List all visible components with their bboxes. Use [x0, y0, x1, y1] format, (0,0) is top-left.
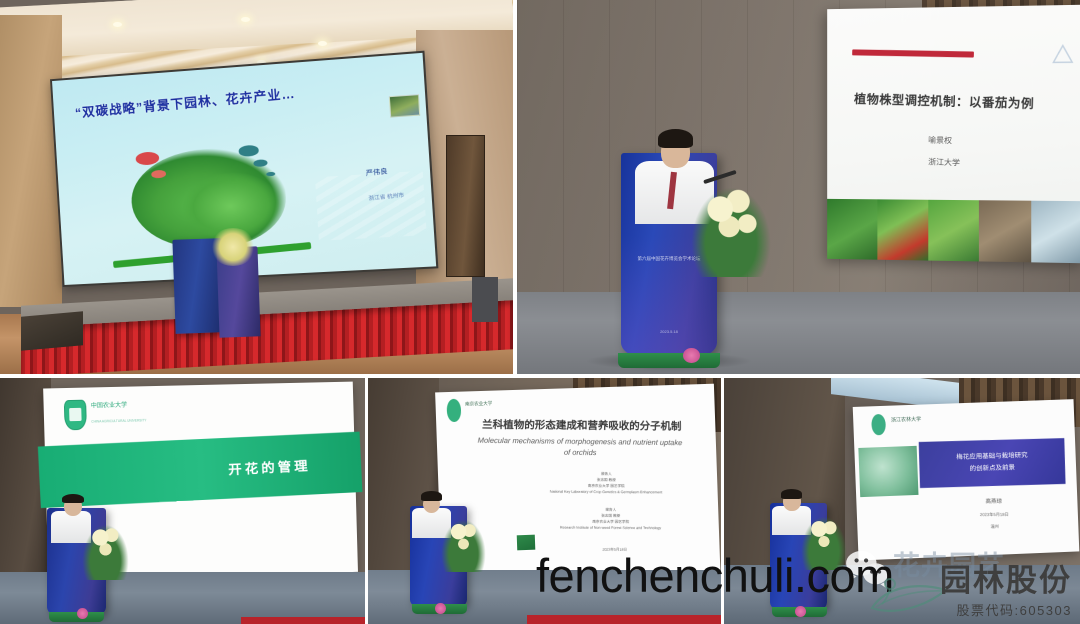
speaker-hair [658, 129, 693, 148]
photo-collage: “双碳战略”背景下园林、花卉产业… 严伟良 浙江省 杭州市 植物株型调 [0, 0, 1080, 624]
projection-screen[interactable]: 浙江农林大学 梅花应用基础与栽培研究 的创新点及前景 高燕琼 2023年5月18… [852, 399, 1078, 560]
site-domain-watermark: fenchenchuli.com [536, 548, 894, 603]
panel-stage-overview[interactable]: “双碳战略”背景下园林、花卉产业… 严伟良 浙江省 杭州市 [0, 0, 513, 374]
brand-stock-code: 股票代码:605303 [940, 600, 1072, 619]
slide-title-box: 梅花应用基础与栽培研究 的创新点及前景 [918, 438, 1065, 488]
pink-flower-icon [795, 606, 806, 617]
brand-name: 园林股份 [940, 565, 1072, 598]
projection-screen[interactable]: 植物株型调控机制：以番茄为例 喻景权 浙江大学 [827, 5, 1080, 264]
slide-credit-block-2: 报告人张志国 教授南京农业大学 园艺学院Research Institute o… [523, 506, 696, 531]
slide-title: 植物株型调控机制：以番茄为例 [854, 89, 1066, 114]
strip-photo [827, 200, 877, 261]
slide-footer-logo [516, 533, 536, 551]
speaker-hair [62, 494, 84, 504]
flower-arrangement [80, 521, 131, 580]
pink-flower-icon [77, 608, 88, 619]
slide-background-pattern [315, 171, 426, 241]
credit-line: Research Institute of Non-wood Forest Sc… [523, 524, 695, 531]
slide-author: 高燕琼 [940, 496, 1046, 504]
slide-photo-inset [389, 94, 421, 117]
loudspeaker [472, 277, 498, 322]
strip-photo [1031, 201, 1080, 264]
speaker-hair [781, 489, 802, 499]
flower-arrangement [686, 180, 776, 277]
pink-flower-icon [683, 348, 700, 363]
university-name-en: CHINA AGRICULTURAL UNIVERSITY [92, 417, 186, 423]
flower-arrangement [439, 516, 488, 573]
slide-affiliation: 浙江大学 [928, 157, 960, 169]
hall-wall-left [0, 15, 62, 307]
slide-title-en: Molecular mechanisms of morphogenesis an… [453, 434, 704, 459]
slide-title: “双碳战略”背景下园林、花卉产业… [75, 73, 410, 122]
university-logo-icon [446, 399, 461, 422]
speaker-hair [421, 491, 442, 501]
credit-line: National Key Laboratory of Crop Genetics… [517, 489, 695, 496]
university-name: 浙江农林大学 [891, 415, 921, 423]
university-logo-icon [871, 413, 886, 435]
stage-steps [21, 311, 83, 350]
podium-date: 2023.5.18 [631, 329, 708, 334]
university-name: 南京农业大学 [465, 401, 492, 408]
brand-watermark: 园林股份 股票代码:605303 [940, 565, 1072, 619]
ceiling-downlight-icon [241, 17, 250, 22]
slide-author: 喻景权 [928, 136, 952, 148]
pink-flower-icon [435, 603, 446, 614]
red-carpet-edge [527, 615, 721, 624]
panel-speaker-zju[interactable]: 植物株型调控机制：以番茄为例 喻景权 浙江大学 第六届中国花卉博览会学术论坛 2… [517, 0, 1080, 374]
slide-title-band: 开花的管理 [38, 432, 363, 509]
slide-title: 开花的管理 [228, 455, 311, 478]
slide-title-line2: 的创新点及前景 [969, 462, 1015, 475]
university-mark-icon [1051, 44, 1073, 67]
logo-inner-shape [70, 408, 82, 422]
podium-base [618, 353, 719, 368]
university-logo-icon [64, 400, 87, 431]
panel-cau-flowering[interactable]: 中国农业大学 CHINA AGRICULTURAL UNIVERSITY 开花的… [0, 378, 365, 624]
slide-accent-rule [852, 50, 974, 58]
slide-title-line1: 梅花应用基础与栽培研究 [956, 450, 1028, 464]
slide-credit-block-1: 报告人张志国 教授南京农业大学 园艺学院National Key Laborat… [517, 470, 695, 496]
slide-photo-strip [827, 200, 1080, 264]
red-carpet-edge [241, 617, 365, 624]
university-name: 中国农业大学 [91, 402, 166, 412]
slide-title-cn: 兰科植物的形态建成和营养吸收的分子机制 [464, 416, 698, 433]
slide-place: 温州 [941, 523, 1047, 530]
hall-door [446, 135, 484, 277]
strip-photo [928, 201, 979, 263]
slide-photo [858, 446, 918, 497]
strip-photo [877, 200, 928, 261]
strip-photo [979, 201, 1031, 263]
slide-date: 2023年5月18日 [941, 511, 1047, 518]
flower-arrangement [210, 228, 256, 265]
